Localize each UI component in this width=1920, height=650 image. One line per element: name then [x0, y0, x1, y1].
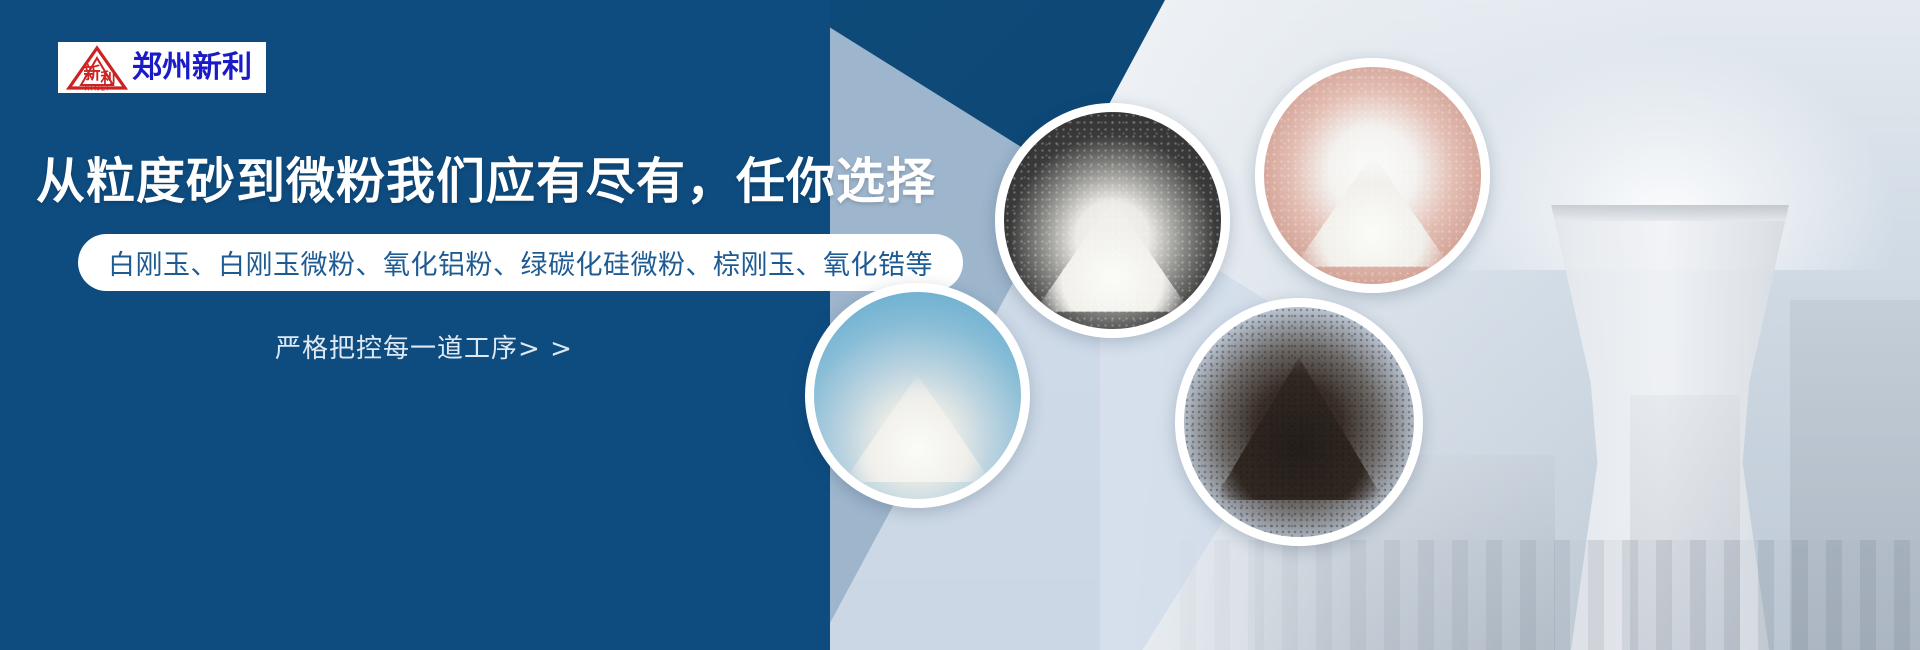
product-circle-brown-fused-alumina-grit[interactable] — [1175, 298, 1423, 546]
grain-texture — [1264, 67, 1481, 284]
promo-banner: 新 利 XINLI 郑州新利 从粒度砂到微粉我们应有尽有，任你选择 白刚玉、白刚… — [0, 0, 1920, 650]
logo-company-name: 郑州新利 — [132, 53, 252, 83]
powder-mound — [843, 375, 992, 483]
product-circle-white-fused-alumina-sand[interactable] — [995, 103, 1230, 338]
product-list-text: 白刚玉、白刚玉微粉、氧化铝粉、绿碳化硅微粉、棕刚玉、氧化锆等 — [108, 243, 933, 282]
company-logo[interactable]: 新 利 XINLI 郑州新利 — [58, 42, 266, 93]
headline: 从粒度砂到微粉我们应有尽有，任你选择 — [36, 142, 936, 213]
grain-texture — [1184, 307, 1414, 537]
cta-arrows-icon: > > — [518, 334, 573, 364]
svg-text:新: 新 — [84, 63, 101, 84]
product-circle-white-alumina-micro-powder[interactable] — [1255, 58, 1490, 293]
xinli-triangle-icon: 新 利 XINLI — [66, 45, 128, 91]
blue-solid-panel — [0, 0, 830, 650]
grain-texture — [1004, 112, 1221, 329]
product-circle-aluminium-oxide-powder[interactable] — [805, 283, 1030, 508]
cta-label: 严格把控每一道工序 — [275, 334, 518, 364]
svg-text:XINLI: XINLI — [84, 84, 109, 91]
product-list-pill: 白刚玉、白刚玉微粉、氧化铝粉、绿碳化硅微粉、棕刚玉、氧化锆等 — [78, 234, 963, 291]
cta-link[interactable]: 严格把控每一道工序> > — [275, 328, 573, 365]
